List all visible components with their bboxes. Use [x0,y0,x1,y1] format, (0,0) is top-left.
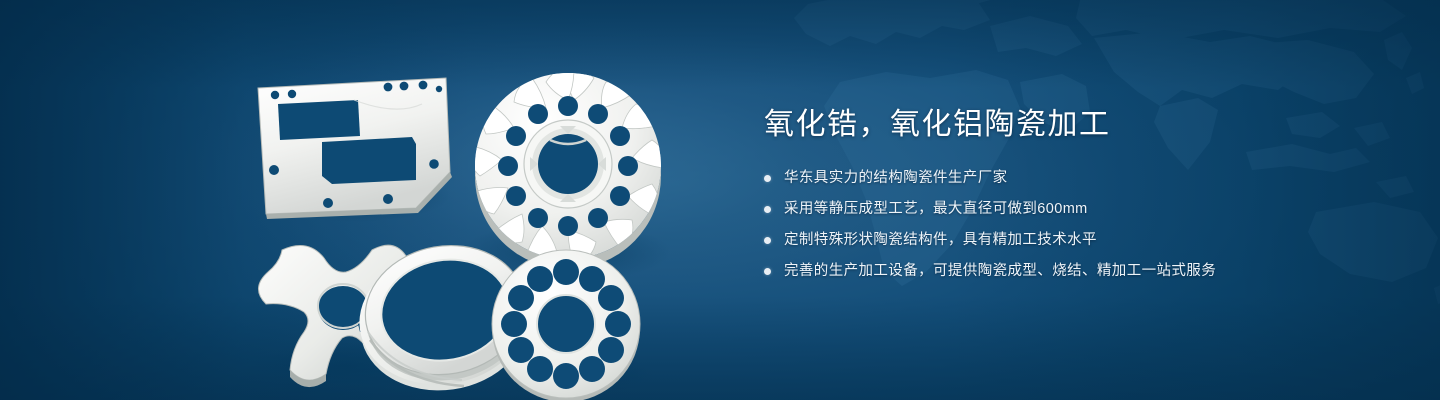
page-title: 氧化锆，氧化铝陶瓷加工 [764,104,1404,146]
list-item: 华东具实力的结构陶瓷件生产厂家 [764,168,1404,189]
bullet-dot-icon [764,175,771,182]
bullet-dot-icon [764,237,771,244]
feature-text: 华东具实力的结构陶瓷件生产厂家 [784,168,1008,189]
banner-copy-block: 氧化锆，氧化铝陶瓷加工 华东具实力的结构陶瓷件生产厂家 采用等静压成型工艺，最大… [764,104,1404,292]
feature-text: 采用等静压成型工艺，最大直径可做到600mm [784,199,1088,220]
bullet-dot-icon [764,268,771,275]
list-item: 定制特殊形状陶瓷结构件，具有精加工技术水平 [764,230,1404,251]
list-item: 采用等静压成型工艺，最大直径可做到600mm [764,199,1404,220]
list-item: 完善的生产加工设备，可提供陶瓷成型、烧结、精加工一站式服务 [764,261,1404,282]
ceramic-mounting-plate-shape [258,78,452,219]
ceramic-products-image [236,36,686,384]
ceramic-processing-banner: 氧化锆，氧化铝陶瓷加工 华东具实力的结构陶瓷件生产厂家 采用等静压成型工艺，最大… [0,0,1440,400]
feature-text: 定制特殊形状陶瓷结构件，具有精加工技术水平 [784,230,1097,251]
bullet-dot-icon [764,206,771,213]
feature-list: 华东具实力的结构陶瓷件生产厂家 采用等静压成型工艺，最大直径可做到600mm 定… [764,168,1404,282]
ceramic-perforated-disc-shape [492,250,640,400]
feature-text: 完善的生产加工设备，可提供陶瓷成型、烧结、精加工一站式服务 [784,261,1216,282]
